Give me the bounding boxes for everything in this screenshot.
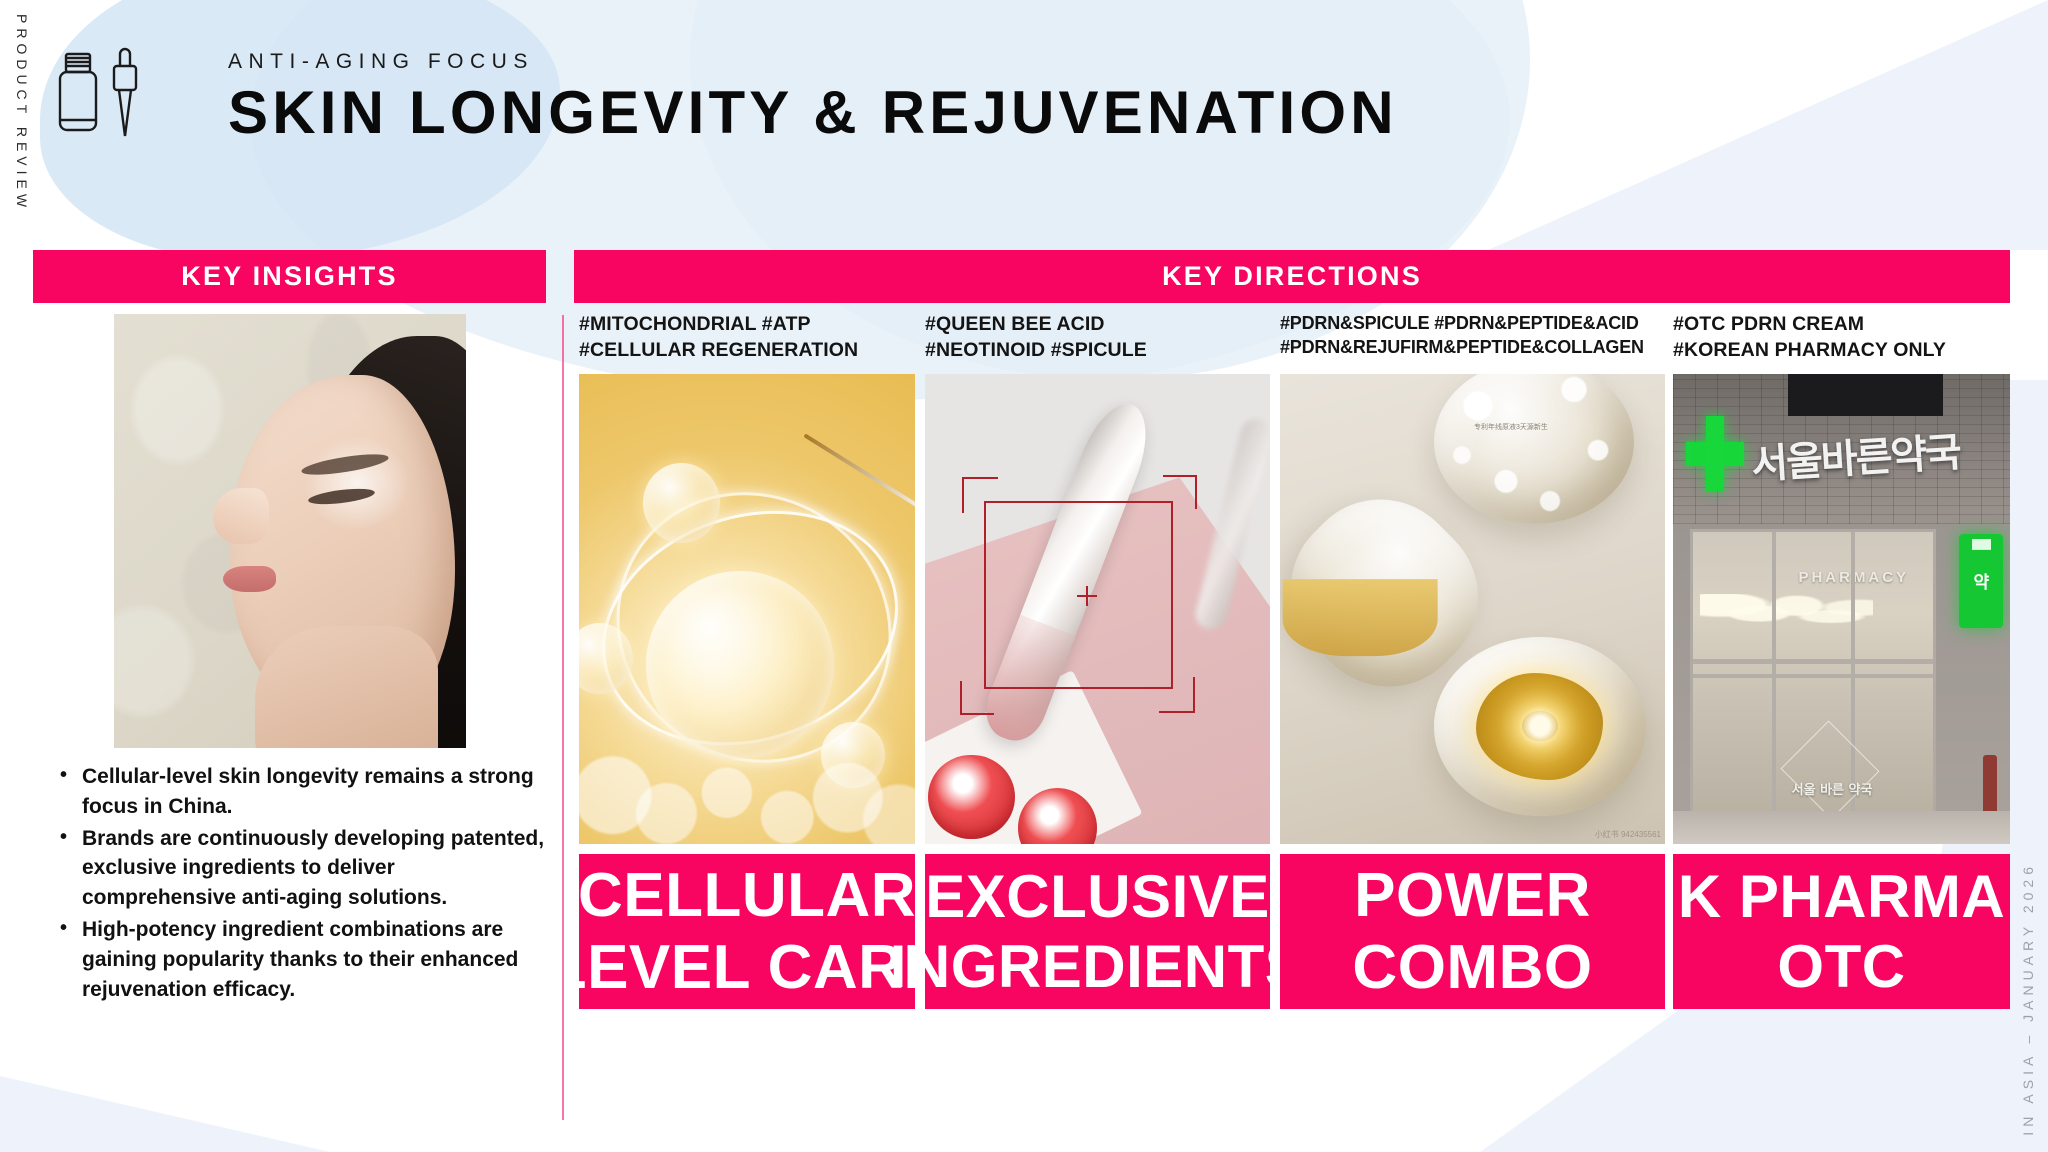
list-item: Brands are continuously developing paten… <box>56 824 548 913</box>
banner-key-insights: KEY INSIGHTS <box>33 250 546 303</box>
direction-tag-line: #PDRN&SPICULE #PDRN&PEPTIDE&ACID <box>1280 312 1665 336</box>
crosshair-center-icon <box>1077 586 1097 606</box>
pharmacy-green-badge: 약 <box>1959 534 2003 628</box>
door-sign-korean: 서울 바른 약국 <box>1789 779 1875 798</box>
page-header: ANTI-AGING FOCUS SKIN LONGEVITY & REJUVE… <box>0 0 2048 245</box>
direction-label-line: CELLULAR <box>578 865 916 927</box>
direction-tags: #MITOCHONDRIAL #ATP #CELLULAR REGENERATI… <box>579 312 915 366</box>
image-watermark: 小红书 942435561 <box>1595 829 1661 840</box>
direction-card-cellular[interactable]: #MITOCHONDRIAL #ATP #CELLULAR REGENERATI… <box>579 312 915 1009</box>
direction-card-power-combo[interactable]: #PDRN&SPICULE #PDRN&PEPTIDE&ACID #PDRN&R… <box>1280 312 1665 1009</box>
insight-photo <box>114 314 466 748</box>
direction-card-exclusive[interactable]: #QUEEN BEE ACID #NEOTINOID #SPICULE EXCL… <box>925 312 1270 1009</box>
list-item: Cellular-level skin longevity remains a … <box>56 762 548 822</box>
direction-label-bar: POWER COMBO <box>1280 854 1665 1009</box>
direction-tags: #OTC PDRN CREAM #KOREAN PHARMACY ONLY <box>1673 312 2010 366</box>
page-title: SKIN LONGEVITY & REJUVENATION <box>228 78 1398 147</box>
direction-tag-line: #PDRN&REJUFIRM&PEPTIDE&COLLAGEN <box>1280 336 1665 360</box>
direction-tag-line: #KOREAN PHARMACY ONLY <box>1673 338 2010 364</box>
direction-tags: #QUEEN BEE ACID #NEOTINOID #SPICULE <box>925 312 1270 366</box>
column-divider <box>562 315 564 1120</box>
direction-label-bar: K PHARMA OTC <box>1673 854 2010 1009</box>
direction-label-line: POWER <box>1354 865 1591 927</box>
direction-tag-line: #MITOCHONDRIAL #ATP <box>579 312 915 338</box>
direction-label-line: LEVEL CARE <box>549 937 946 999</box>
direction-label-line: K PHARMA <box>1678 867 2005 927</box>
direction-image-glass-spheres: 专利年线原液3天源新生 小红书 942435561 <box>1280 374 1665 844</box>
direction-tag-line: #CELLULAR REGENERATION <box>579 338 915 364</box>
direction-label-line: COMBO <box>1352 937 1592 999</box>
direction-image-korean-pharmacy: 서울바른약국 PHARMACY 서울 바른 약국 약 <box>1673 374 2010 844</box>
direction-card-k-pharma[interactable]: #OTC PDRN CREAM #KOREAN PHARMACY ONLY 서울… <box>1673 312 2010 1009</box>
rail-product-review: PRODUCT REVIEW <box>14 14 30 212</box>
direction-tag-line: #NEOTINOID #SPICULE <box>925 338 1270 364</box>
pharmacy-sign-korean: 서울바른약국 <box>1749 411 1995 496</box>
rail-issue-date: IN ASIA – JANUARY 2026 <box>2020 862 2036 1136</box>
direction-label-bar: EXCLUSIVE INGREDIENTS <box>925 854 1270 1009</box>
direction-image-spicule <box>925 374 1270 844</box>
direction-tags: #PDRN&SPICULE #PDRN&PEPTIDE&ACID #PDRN&R… <box>1280 312 1665 366</box>
header-eyebrow: ANTI-AGING FOCUS <box>228 50 534 74</box>
direction-tag-line: #QUEEN BEE ACID <box>925 312 1270 338</box>
direction-image-golden-serum <box>579 374 915 844</box>
sphere-chinese-text: 专利年线原液3天源新生 <box>1474 422 1598 434</box>
direction-tag-line: #OTC PDRN CREAM <box>1673 312 2010 338</box>
serum-bottle-dropper-icon <box>52 42 160 154</box>
banner-key-directions: KEY DIRECTIONS <box>574 250 2010 303</box>
green-cross-icon <box>1686 416 1743 491</box>
direction-label-line: INGREDIENTS <box>890 937 1306 997</box>
direction-label-bar: CELLULAR LEVEL CARE <box>579 854 915 1009</box>
insight-bullet-list: Cellular-level skin longevity remains a … <box>56 762 548 1007</box>
direction-label-line: OTC <box>1777 937 1905 997</box>
direction-label-line: EXCLUSIVE <box>925 867 1270 927</box>
list-item: High-potency ingredient combinations are… <box>56 915 548 1004</box>
